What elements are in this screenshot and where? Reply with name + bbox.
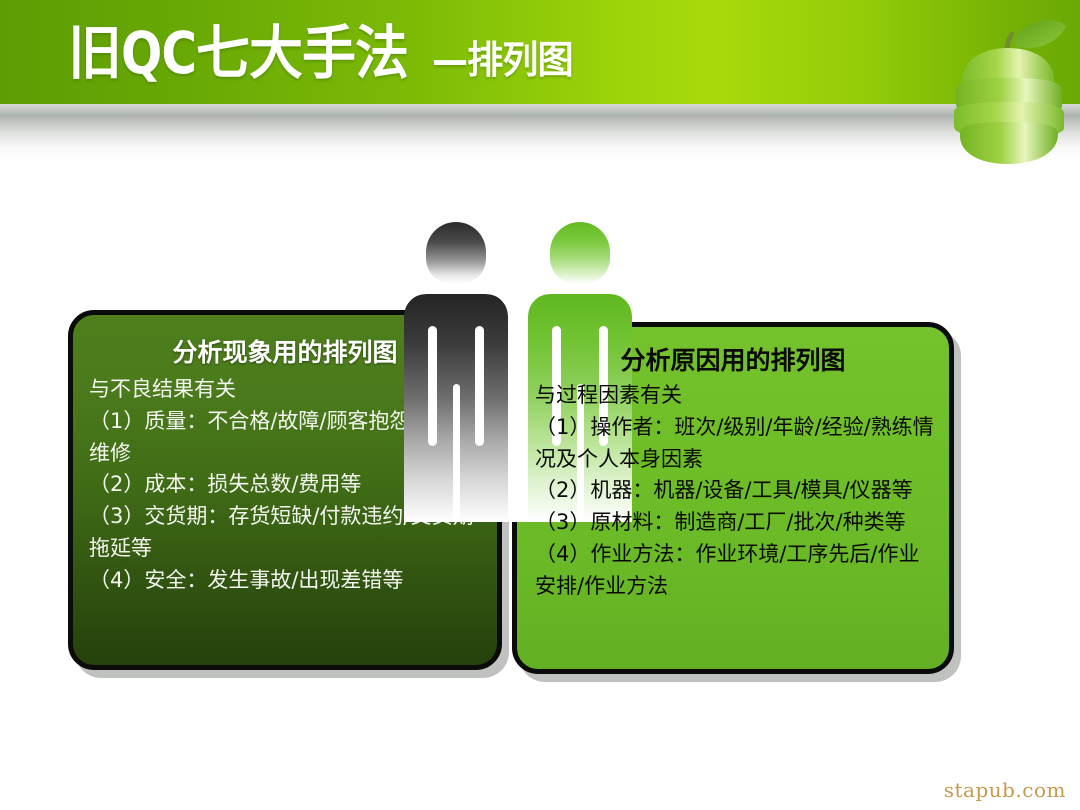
person-head-gray <box>426 222 486 284</box>
page-title-sub: —排列图 <box>432 41 573 79</box>
person-gray-leg-slit <box>453 384 460 522</box>
header-divider-shadow <box>0 116 1080 162</box>
card-right-line-1: （1）操作者：班次/级别/年龄/经验/熟练情况及个人本身因素 <box>535 412 939 476</box>
person-gray-arm-slit-left <box>428 326 437 446</box>
person-pictogram-gray-icon <box>404 222 508 522</box>
person-gray-arm-slit-right <box>475 326 484 446</box>
page-title: 旧QC七大手法—排列图 <box>68 24 580 82</box>
person-head-green <box>550 222 610 284</box>
watermark: stapub.com <box>944 778 1066 802</box>
card-cause-pareto[interactable]: 分析原因用的排列图 与过程因素有关 （1）操作者：班次/级别/年龄/经验/熟练情… <box>512 322 954 674</box>
header-divider-bar <box>0 104 1080 116</box>
slide-canvas: 旧QC七大手法—排列图 <box>0 0 1080 810</box>
apple-leaf-icon <box>1014 20 1066 48</box>
card-right-line-3: （3）原材料：制造商/工厂/批次/种类等 <box>535 507 939 539</box>
apple-icon <box>938 8 1080 166</box>
card-right-line-0: 与过程因素有关 <box>535 380 939 412</box>
card-right-line-2: （2）机器：机器/设备/工具/模具/仪器等 <box>535 475 939 507</box>
card-right-title: 分析原因用的排列图 <box>517 327 949 380</box>
header-banner: 旧QC七大手法—排列图 <box>0 0 1080 106</box>
page-title-main: 旧QC七大手法 <box>68 24 408 82</box>
card-left-line-4: （4）安全：发生事故/出现差错等 <box>89 565 483 597</box>
card-right-line-4: （4）作业方法：作业环境/工序先后/作业安排/作业方法 <box>535 539 939 603</box>
card-right-body: 与过程因素有关 （1）操作者：班次/级别/年龄/经验/熟练情况及个人本身因素 （… <box>517 380 949 603</box>
